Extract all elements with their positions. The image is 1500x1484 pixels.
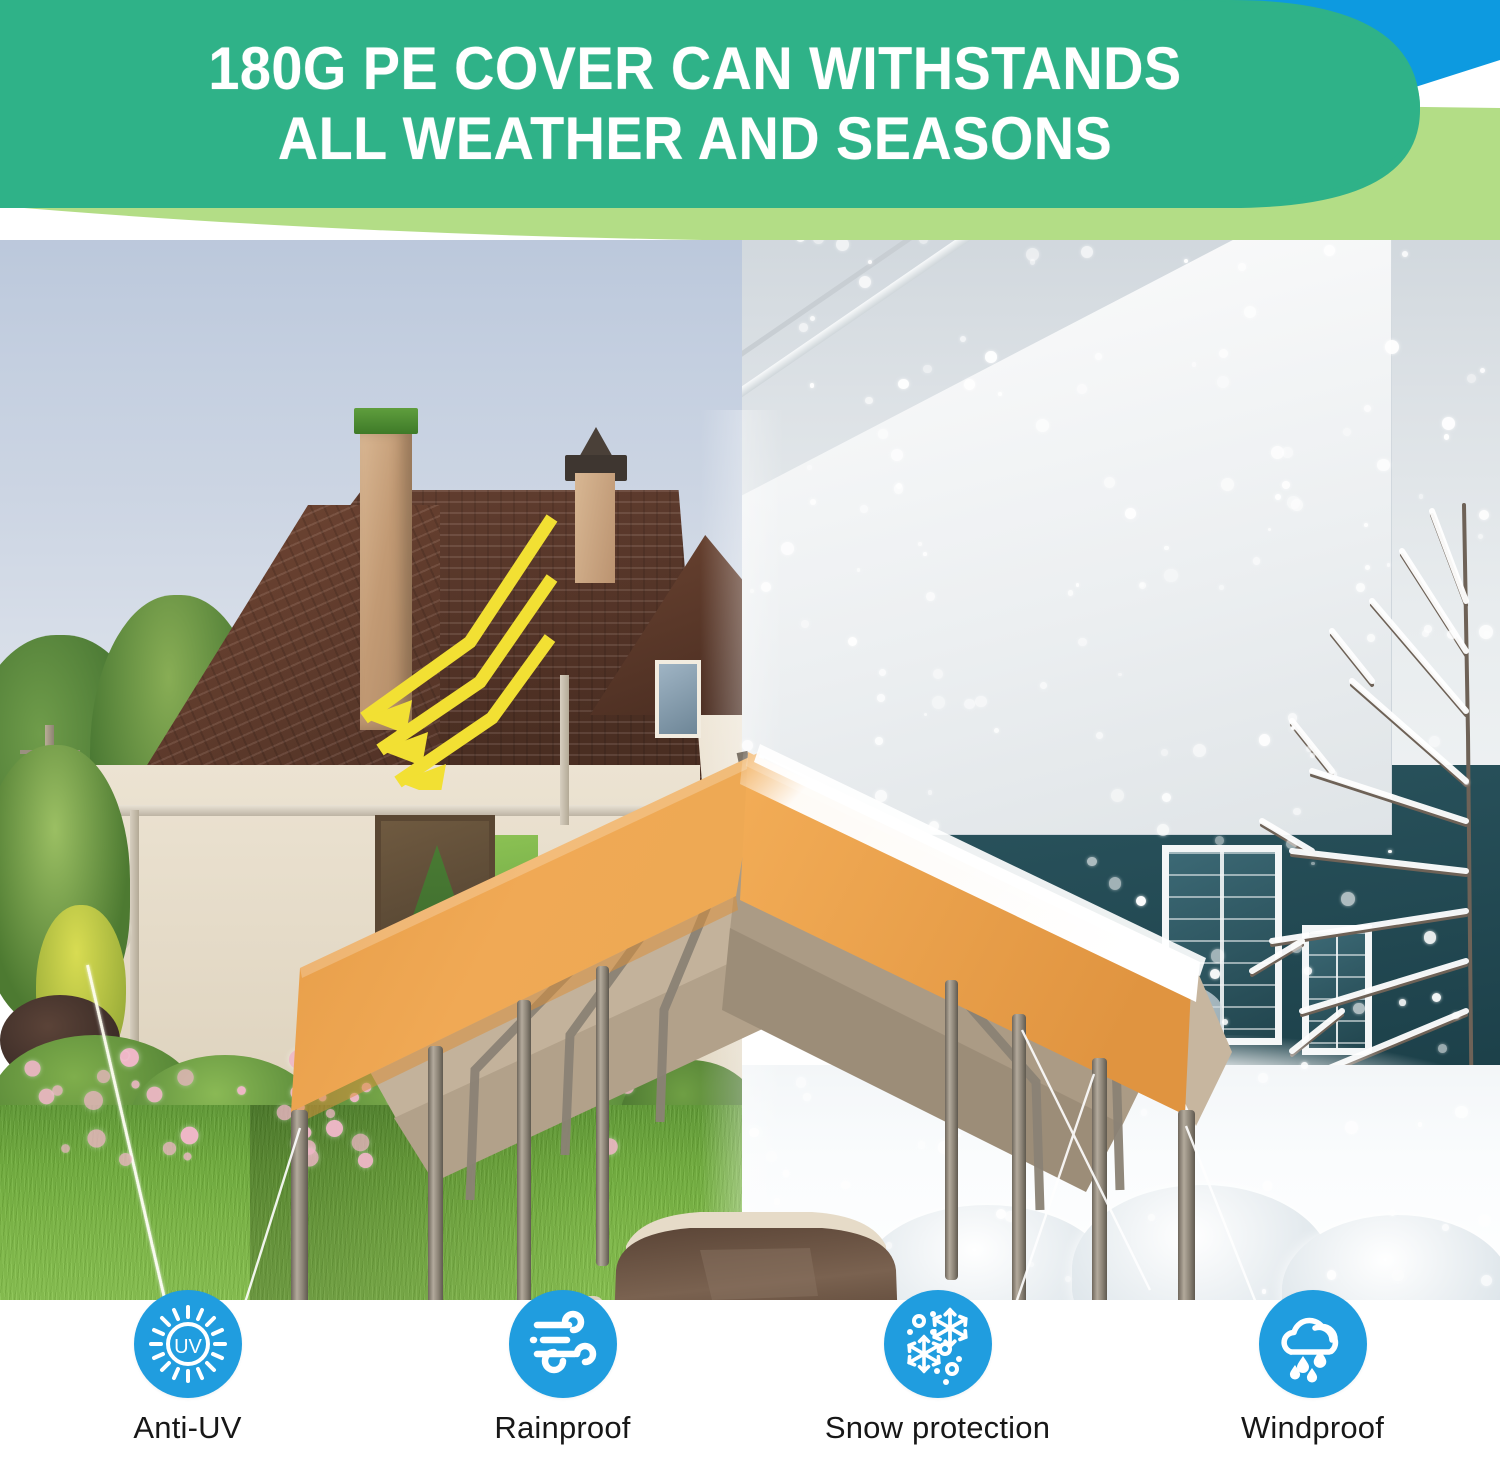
- flower: [296, 1103, 305, 1112]
- flower: [177, 1069, 194, 1086]
- split-season-photo: [0, 205, 1500, 1300]
- feature-label: Rainproof: [494, 1410, 630, 1446]
- flower: [327, 1052, 338, 1063]
- flower: [277, 1104, 293, 1120]
- flower: [146, 1087, 162, 1103]
- sun-uv-icon: UV: [134, 1290, 242, 1398]
- feature-icon-row: UV Anti-UV: [0, 1290, 1500, 1484]
- flower: [366, 1048, 378, 1060]
- flower: [394, 1087, 411, 1104]
- house-window: [655, 660, 701, 738]
- flower: [120, 1051, 129, 1060]
- flower: [326, 1109, 335, 1118]
- feature-label: Windproof: [1241, 1410, 1384, 1446]
- lawn-shadow: [250, 1105, 742, 1300]
- flower: [518, 1062, 528, 1072]
- flower: [601, 1138, 618, 1155]
- banner-line-1: 180G PE COVER CAN WITHSTANDS: [49, 34, 1342, 104]
- feature-rainproof[interactable]: Rainproof: [375, 1290, 750, 1484]
- flower: [318, 1093, 326, 1101]
- feature-label: Anti-UV: [133, 1410, 241, 1446]
- product-feature-poster: 180G PE COVER CAN WITHSTANDS ALL WEATHER…: [0, 0, 1500, 1484]
- uv-reflection-arrows: [320, 460, 580, 790]
- rain-cloud-icon: [1259, 1290, 1367, 1398]
- wind-icon: [509, 1290, 617, 1398]
- banner-headline: 180G PE COVER CAN WITHSTANDS ALL WEATHER…: [49, 34, 1342, 174]
- header-banner: 180G PE COVER CAN WITHSTANDS ALL WEATHER…: [0, 0, 1500, 240]
- flower: [358, 1153, 373, 1168]
- uv-label: UV: [174, 1336, 202, 1358]
- flower: [289, 1050, 308, 1069]
- flower: [97, 1070, 110, 1083]
- feature-windproof[interactable]: Windproof: [1125, 1290, 1500, 1484]
- flower: [119, 1153, 132, 1166]
- flower: [351, 1134, 369, 1152]
- flower: [24, 1060, 40, 1076]
- summer-scene: [0, 205, 742, 1300]
- snowflake-icon: [884, 1290, 992, 1398]
- flower: [431, 1097, 449, 1115]
- flower: [183, 1153, 191, 1161]
- flower: [621, 1081, 634, 1094]
- flower: [237, 1086, 246, 1095]
- chimney-small: [575, 473, 615, 583]
- winter-scene: [742, 205, 1500, 1300]
- flower: [84, 1091, 103, 1110]
- flower: [434, 1142, 445, 1153]
- feature-label: Snow protection: [825, 1410, 1050, 1446]
- flower: [163, 1142, 176, 1155]
- feature-snow-protection[interactable]: Snow protection: [750, 1290, 1125, 1484]
- banner-line-2: ALL WEATHER AND SEASONS: [49, 104, 1342, 174]
- flower: [387, 1096, 396, 1105]
- feature-anti-uv[interactable]: UV Anti-UV: [0, 1290, 375, 1484]
